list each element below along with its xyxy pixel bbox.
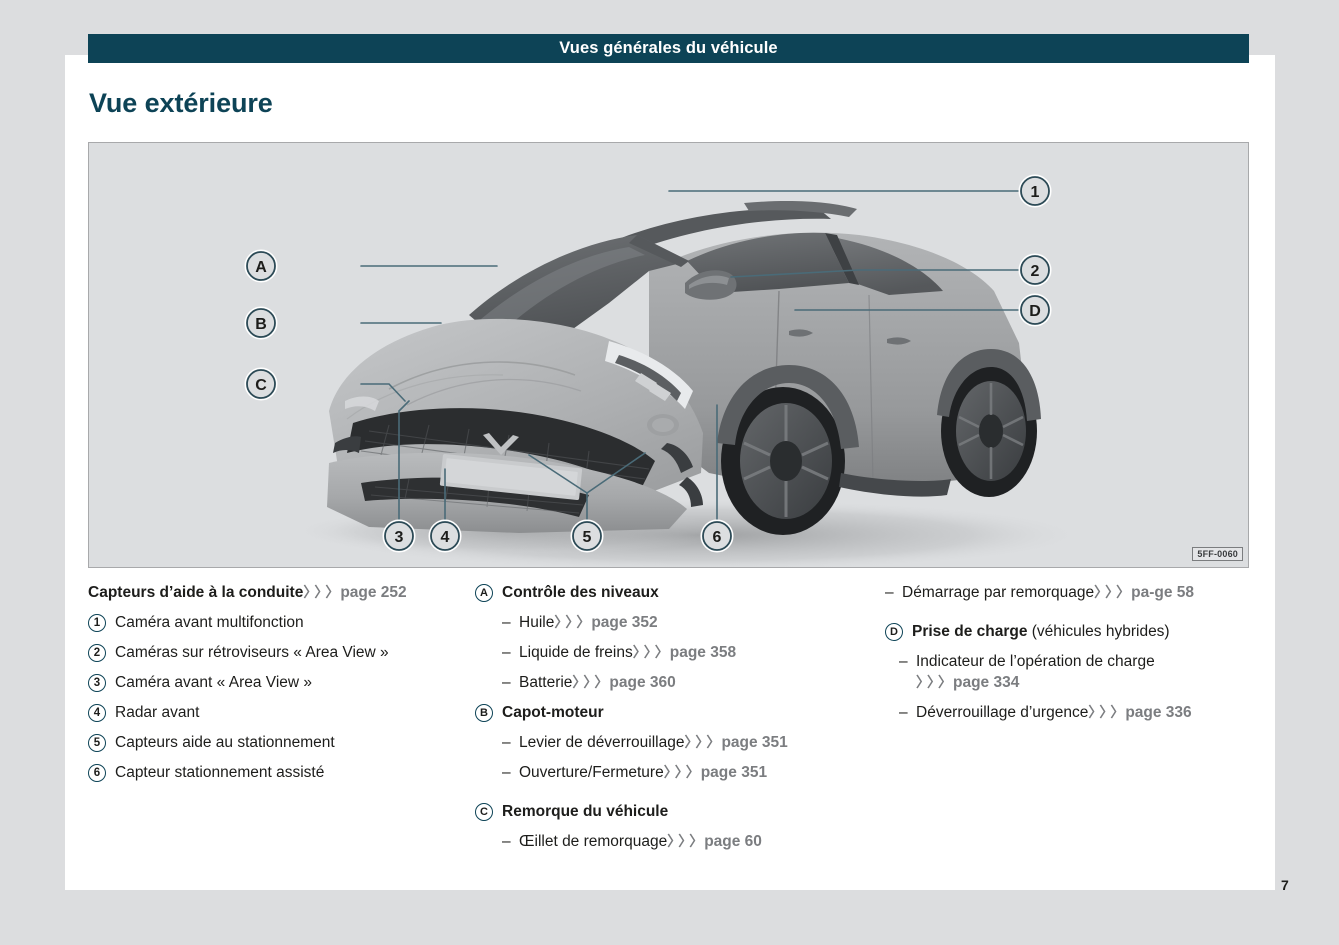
chapter-title: Vues générales du véhicule [559,39,777,58]
legend-group-c: C Remorque du véhicule [475,801,869,822]
list-item: – Déverrouillage d’urgence〉〉〉page 336 [885,702,1233,723]
callout-marker-d: D [885,623,903,641]
list-item-pageref: page 351 [721,734,787,751]
list-item-label: Caméra avant multifonction [115,612,459,633]
legend-group-b: B Capot-moteur [475,702,869,723]
legend-group-b-title: Capot-moteur [502,702,869,723]
bullet-dash-icon: – [502,642,514,663]
legend-group-d-title-suffix: (véhicules hybrides) [1027,623,1169,640]
pageref-arrows-icon: 〉〉〉 [916,674,949,690]
list-item-pageref: page 352 [591,614,657,631]
list-item: – Indicateur de l’opération de charge〉〉〉… [885,651,1233,693]
bullet-dash-icon: – [899,702,911,723]
list-item-pageref-continued: ge 58 [1154,584,1194,601]
list-item: – Levier de déverrouillage〉〉〉page 351 [475,732,869,753]
list-item-label: Levier de déverrouillage [519,734,684,751]
list-item-label: Batterie [519,674,572,691]
manual-page: Vues générales du véhicule Vue extérieur… [0,0,1339,945]
legend-column-3: – Démarrage par remorquage〉〉〉pa-ge 58 D … [885,582,1249,861]
callout-marker-b: B [475,704,493,722]
list-item-label: Démarrage par remorquage [902,584,1094,601]
list-item-label: Indicateur de l’opération de charge [916,653,1155,670]
list-item: – Démarrage par remorquage〉〉〉pa-ge 58 [885,582,1233,603]
legend-heading-driver-assist: Capteurs d’aide à la conduite〉〉〉page 252 [88,582,459,603]
bullet-dash-icon: – [502,732,514,753]
page-number: 7 [1281,877,1289,893]
pageref-arrows-icon: 〉〉〉 [1094,584,1127,600]
bullet-dash-icon: – [502,672,514,693]
page-title: Vue extérieure [89,88,273,119]
legend-heading-text: Capteurs d’aide à la conduite [88,584,303,601]
bullet-dash-icon: – [502,831,514,852]
bullet-dash-icon: – [502,612,514,633]
legend-group-c-title: Remorque du véhicule [502,801,869,822]
bullet-dash-icon: – [899,651,911,672]
pageref-arrows-icon: 〉〉〉 [572,674,605,690]
list-item-pageref: pa- [1131,584,1154,601]
list-item-pageref: page 351 [701,764,767,781]
list-item: 5 Capteurs aide au stationnement [88,732,459,753]
pageref-arrows-icon: 〉〉〉 [664,764,697,780]
list-item: 3 Caméra avant « Area View » [88,672,459,693]
pageref-arrows-icon: 〉〉〉 [1088,704,1121,720]
list-item-label: Caméra avant « Area View » [115,672,459,693]
callout-marker-4: 4 [88,704,106,722]
legend-group-d-title: Prise de charge [912,623,1027,640]
chapter-header-bar: Vues générales du véhicule [88,34,1249,63]
list-item-label: Radar avant [115,702,459,723]
pageref-arrows-icon: 〉〉〉 [633,644,666,660]
legend-group-d: D Prise de charge (véhicules hybrides) [885,621,1233,642]
pageref-arrows-icon: 〉〉〉 [554,614,587,630]
figure-legend: Capteurs d’aide à la conduite〉〉〉page 252… [88,582,1249,861]
legend-heading-pageref[interactable]: page 252 [340,584,406,601]
list-item: 2 Caméras sur rétroviseurs « Area View » [88,642,459,663]
list-item-pageref: page 360 [609,674,675,691]
legend-group-a: A Contrôle des niveaux [475,582,869,603]
legend-group-a-title: Contrôle des niveaux [502,582,869,603]
callout-marker-2: 2 [88,644,106,662]
bullet-dash-icon: – [885,582,897,603]
list-item: – Ouverture/Fermeture〉〉〉page 351 [475,762,869,783]
list-item: 6 Capteur stationnement assisté [88,762,459,783]
pageref-arrows-icon: 〉〉〉 [303,584,336,600]
callout-marker-1: 1 [88,614,106,632]
list-item: – Batterie〉〉〉page 360 [475,672,869,693]
callout-marker-a: A [475,584,493,602]
list-item: 4 Radar avant [88,702,459,723]
list-item-pageref: page 60 [704,833,762,850]
list-item-pageref: page 336 [1125,704,1191,721]
list-item-label: Déverrouillage d’urgence [916,704,1088,721]
pageref-arrows-icon: 〉〉〉 [667,833,700,849]
vehicle-figure: A B C 1 2 D [88,142,1249,568]
list-item-label: Caméras sur rétroviseurs « Area View » [115,642,459,663]
list-item-pageref: page 334 [953,674,1019,691]
list-item-label: Capteur stationnement assisté [115,762,459,783]
legend-column-2: A Contrôle des niveaux – Huile〉〉〉page 35… [475,582,885,861]
list-item-label: Œillet de remorquage [519,833,667,850]
list-item-label: Huile [519,614,554,631]
callout-marker-3: 3 [88,674,106,692]
list-item-label: Capteurs aide au stationnement [115,732,459,753]
list-item: – Huile〉〉〉page 352 [475,612,869,633]
callout-marker-c: C [475,803,493,821]
list-item-label: Ouverture/Fermeture [519,764,664,781]
callout-marker-6: 6 [88,764,106,782]
callout-marker-5: 5 [88,734,106,752]
pageref-arrows-icon: 〉〉〉 [684,734,717,750]
list-item: 1 Caméra avant multifonction [88,612,459,633]
list-item: – Liquide de freins〉〉〉page 358 [475,642,869,663]
bullet-dash-icon: – [502,762,514,783]
legend-column-1: Capteurs d’aide à la conduite〉〉〉page 252… [88,582,475,861]
list-item-pageref: page 358 [670,644,736,661]
list-item-label: Liquide de freins [519,644,633,661]
vehicle-illustration [89,143,1248,567]
list-item: – Œillet de remorquage〉〉〉page 60 [475,831,869,852]
figure-id-label: 5FF-0060 [1192,547,1243,561]
